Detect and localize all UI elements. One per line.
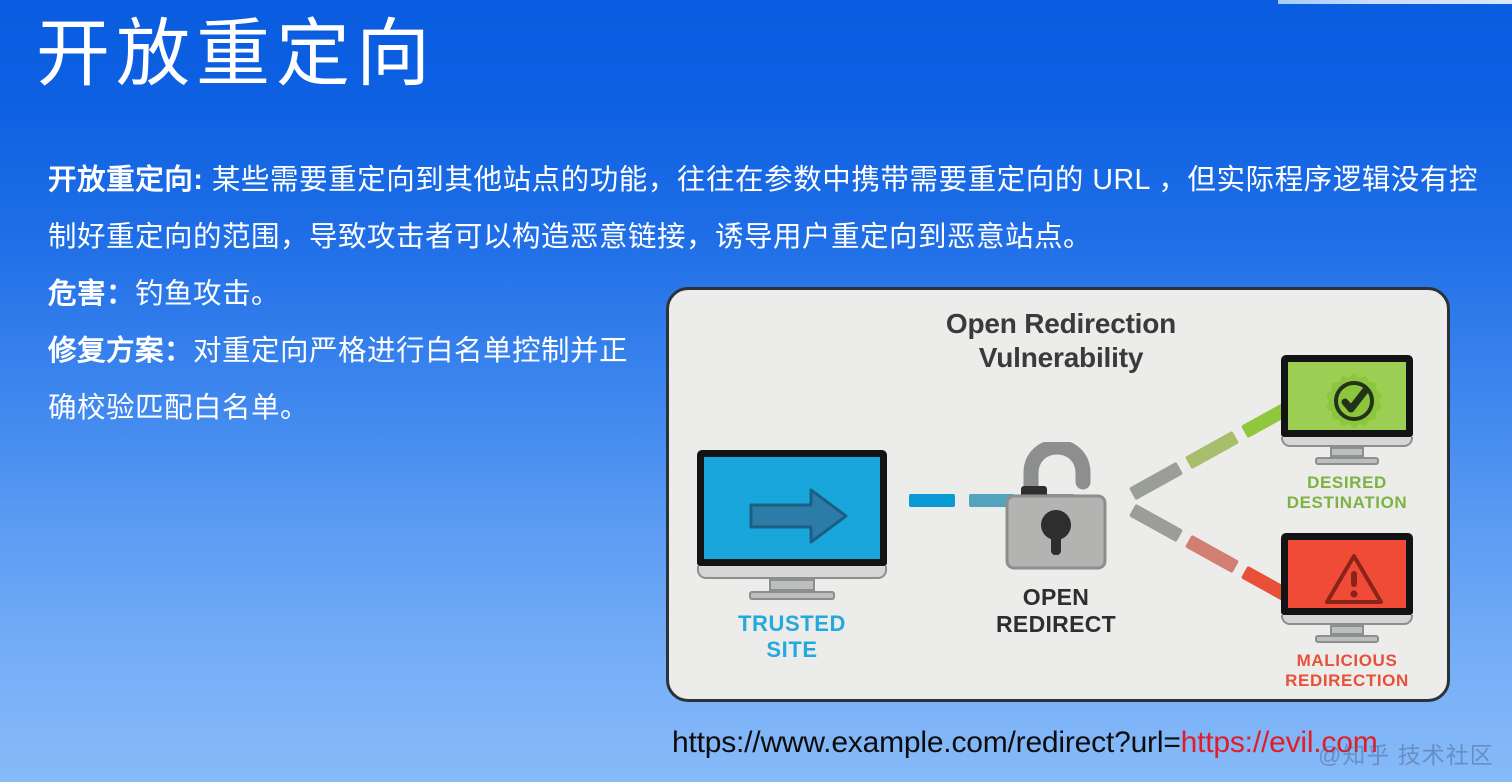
connector-dash-desired-2 [1185,431,1239,469]
malicious-redirection-monitor-neck [1330,625,1364,635]
diagram-card: Open Redirection Vulnerability TRUSTED S… [666,287,1450,702]
node-trusted-site: TRUSTED SITE [697,450,887,663]
definition-label: 开放重定向: [48,164,203,196]
trusted-site-monitor-foot [749,591,835,600]
desired-destination-label-line1: DESIRED [1281,473,1413,493]
right-arrow-icon [749,487,849,545]
malicious-redirection-label-line1: MALICIOUS [1281,651,1413,671]
open-redirect-label-line1: OPEN [991,584,1121,611]
open-redirect-label: OPEN REDIRECT [991,584,1121,637]
desired-destination-monitor-foot [1315,457,1379,465]
malicious-redirection-label-line2: REDIRECTION [1281,671,1413,691]
url-safe-part: https://www.example.com/redirect?url= [672,726,1181,759]
connector-dash-desired-1 [1129,462,1183,500]
desired-destination-monitor-neck [1330,447,1364,457]
desired-destination-label-line2: DESTINATION [1281,493,1413,513]
malicious-redirection-screen [1281,533,1413,615]
trusted-site-label: TRUSTED SITE [697,611,887,663]
desired-destination-screen [1281,355,1413,437]
trusted-site-label-line2: SITE [697,637,887,663]
desired-destination-label: DESIRED DESTINATION [1281,473,1413,513]
desired-destination-monitor-base [1281,437,1413,447]
definition-text: 某些需要重定向到其他站点的功能，往往在参数中携带需要重定向的 URL ，但实际程… [48,164,1478,253]
definition-paragraph: 开放重定向: 某些需要重定向到其他站点的功能，往往在参数中携带需要重定向的 UR… [48,152,1478,266]
harm-label: 危害： [48,278,135,310]
fix-paragraph: 修复方案：对重定向严格进行白名单控制并正确校验匹配白名单。 [48,323,648,437]
trusted-site-screen [697,450,887,566]
fix-label: 修复方案： [48,335,193,367]
connector-dash-malicious-2 [1185,535,1239,573]
connector-dash-trusted-1 [909,494,955,507]
node-malicious-redirection: MALICIOUS REDIRECTION [1281,533,1413,691]
example-url: https://www.example.com/redirect?url=htt… [672,726,1378,760]
malicious-redirection-label: MALICIOUS REDIRECTION [1281,651,1413,691]
node-open-redirect: OPEN REDIRECT [991,442,1121,637]
page-title: 开放重定向 [36,14,436,94]
open-padlock-icon [991,442,1121,570]
harm-text: 钓鱼攻击。 [135,278,280,310]
malicious-redirection-monitor-foot [1315,635,1379,643]
trusted-site-monitor-base [697,566,887,579]
warning-triangle-icon [1324,552,1384,606]
check-badge-icon [1325,372,1383,430]
trusted-site-monitor-neck [769,579,815,591]
trusted-site-label-line1: TRUSTED [697,611,887,637]
malicious-redirection-monitor-base [1281,615,1413,625]
connector-dash-malicious-1 [1129,504,1183,542]
open-redirect-label-line2: REDIRECT [991,611,1121,638]
top-right-accent-strip [1278,0,1512,4]
url-evil-part: https://evil.com [1181,726,1378,759]
node-desired-destination: DESIRED DESTINATION [1281,355,1413,513]
slide-canvas: 开放重定向 开放重定向: 某些需要重定向到其他站点的功能，往往在参数中携带需要重… [0,0,1512,782]
diagram-title-line1: Open Redirection [669,307,1450,341]
